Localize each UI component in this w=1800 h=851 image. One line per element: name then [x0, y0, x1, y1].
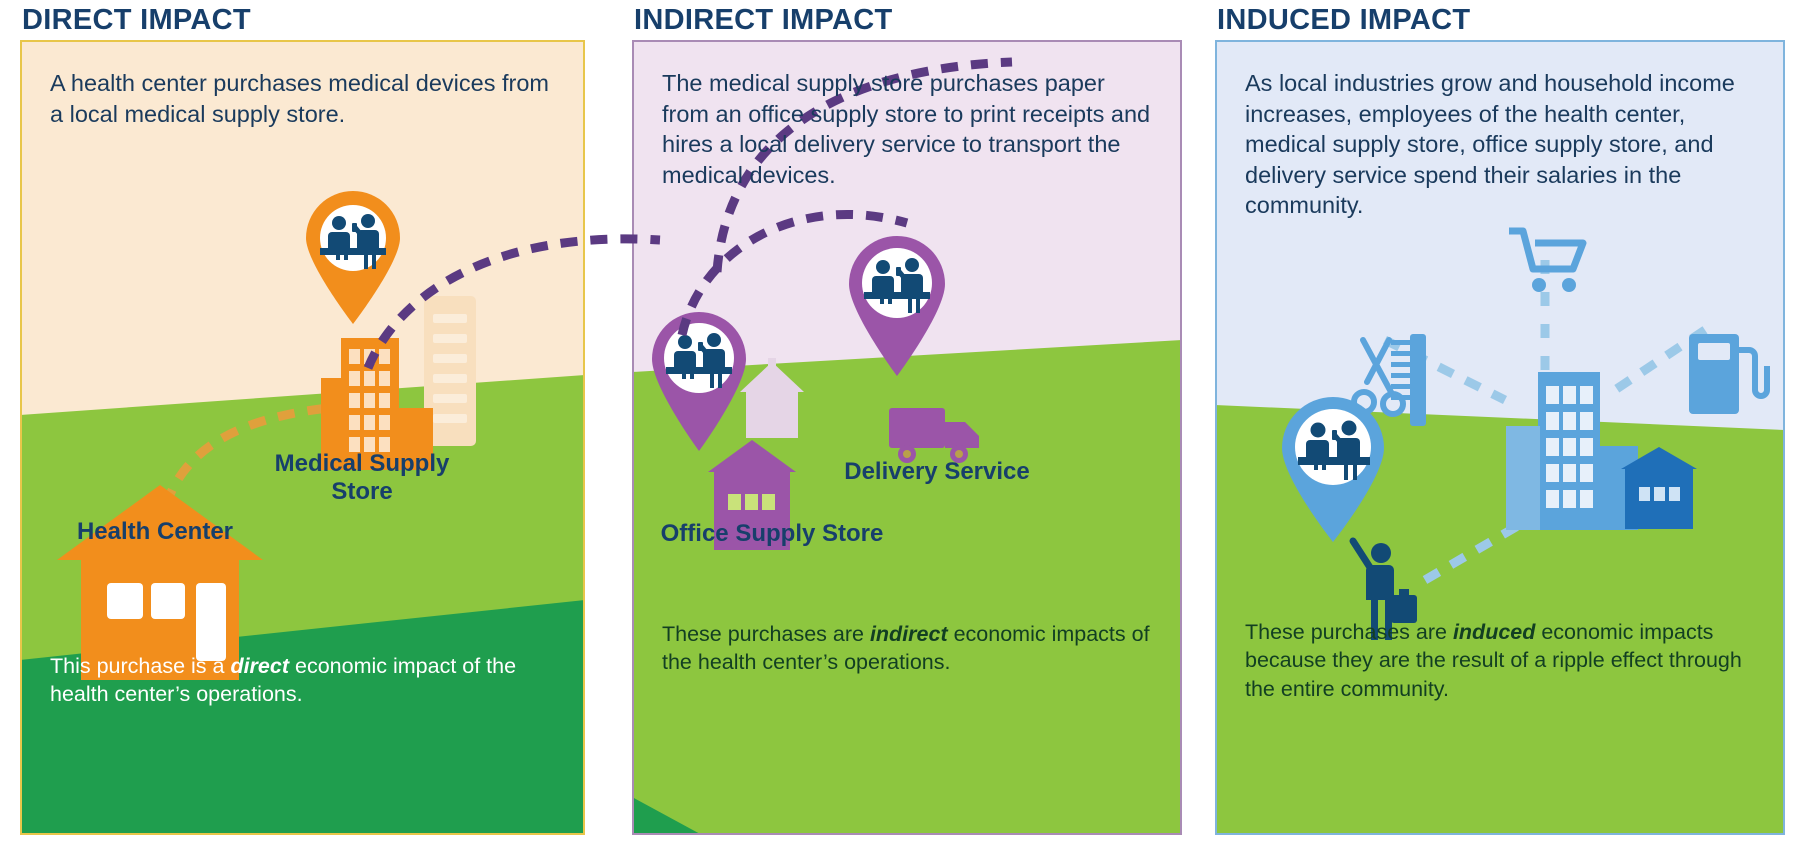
panel-heading-direct: DIRECT IMPACT	[22, 4, 251, 37]
pin-delivery-service	[840, 228, 955, 378]
infographic-canvas: DIRECT IMPACT	[0, 0, 1800, 851]
house-icon	[55, 480, 265, 680]
panel-body-indirect: The medical supply store purchases paper…	[662, 68, 1156, 190]
panel-body-induced: As local industries grow and household i…	[1245, 68, 1759, 221]
label-delivery-service: Delivery Service	[812, 458, 1062, 486]
panel-heading-indirect: INDIRECT IMPACT	[634, 4, 893, 37]
gas-pump-icon	[1685, 330, 1770, 420]
label-office-supply-store-text: Office Supply Store	[661, 520, 884, 547]
caption-emphasis: indirect	[870, 622, 948, 646]
caption-pre: These purchases are	[1245, 620, 1453, 644]
panel-caption-indirect: These purchases are indirect economic im…	[662, 620, 1160, 677]
small-store-icon	[1615, 445, 1705, 530]
panel-direct: Health Center Medical Supply Store A hea…	[20, 40, 585, 835]
pin-community-employees	[1272, 390, 1397, 545]
panel-induced: As local industries grow and household i…	[1215, 40, 1785, 835]
counter-transaction-pin	[298, 185, 408, 325]
panel-indirect: Office Supply Store	[632, 40, 1182, 835]
pin-holder-2	[840, 228, 955, 378]
label-office-supply-store: Office Supply Store	[632, 520, 922, 548]
label-health-center: Health Center	[50, 518, 260, 546]
caption-emphasis: direct	[230, 654, 289, 678]
panel-heading-induced: INDUCED IMPACT	[1217, 4, 1470, 37]
caption-emphasis: induced	[1453, 620, 1535, 644]
panel-body-direct: A health center purchases medical device…	[50, 68, 559, 129]
caption-pre: This purchase is a	[50, 654, 230, 678]
shopping-cart-icon	[1505, 225, 1595, 300]
label-medical-supply-store: Medical Supply Store	[252, 450, 472, 505]
pin-holder-3	[1272, 390, 1397, 545]
panel-caption-induced: These purchases are induced economic imp…	[1245, 618, 1763, 703]
panel-caption-direct: This purchase is a direct economic impac…	[50, 652, 563, 709]
caption-pre: These purchases are	[662, 622, 870, 646]
pin-medical-supply-store	[298, 185, 408, 325]
